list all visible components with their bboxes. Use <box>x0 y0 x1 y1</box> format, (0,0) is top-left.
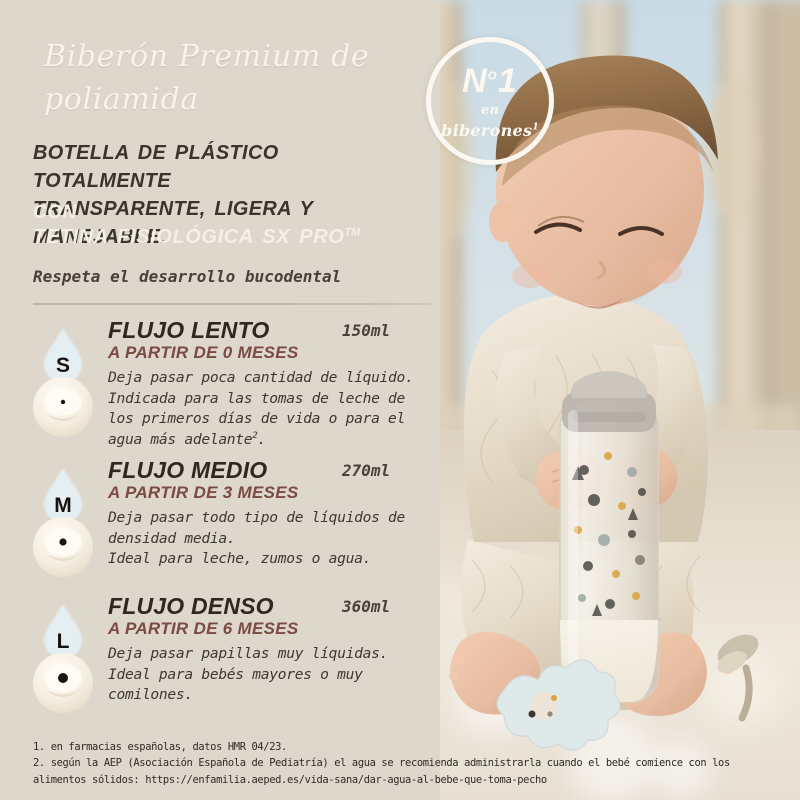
flow-title: FLUJO LENTO <box>108 318 270 342</box>
section-divider <box>33 303 431 305</box>
teat-name-text: TETINA FISIOLÓGICA SX PRO <box>33 226 344 248</box>
flow-age: A PARTIR DE 6 MESES <box>108 620 299 638</box>
badge-line-3: biberones1 <box>426 121 554 140</box>
subtitle: Respeta el desarrollo bucodental <box>33 267 433 286</box>
page-title: Biberón Premium de poliamida <box>44 36 434 121</box>
badge-number-prefix: N <box>462 62 488 100</box>
flow-description-tail: . <box>257 431 266 448</box>
trademark-symbol: TM <box>344 227 360 239</box>
con-label: CON <box>33 201 438 224</box>
flow-icon-s: S <box>24 322 102 440</box>
badge-ordinal: o <box>488 67 498 84</box>
footnote-1: 1. en farmacias españolas, datos HMR 04/… <box>33 739 788 755</box>
flow-icon-l: L <box>24 598 102 716</box>
poster-root: Biberón Premium de poliamida BOTELLA DE … <box>0 0 800 800</box>
teat-hole-m <box>59 538 66 545</box>
teat-name: TETINA FISIOLÓGICA SX PROTM <box>33 224 438 251</box>
teat-callout: CON TETINA FISIOLÓGICA SX PROTM <box>33 201 438 251</box>
flow-description-text: Deja pasar todo tipo de líquidos de dens… <box>108 509 405 567</box>
flow-description: Deja pasar poca cantidad de líquido. Ind… <box>108 368 438 451</box>
flow-title: FLUJO DENSO <box>108 594 274 618</box>
badge-line-3-footnote: 1 <box>532 123 539 133</box>
size-letter-m: M <box>54 494 72 517</box>
footnote-2: 2. según la AEP (Asociación Española de … <box>33 755 788 788</box>
badge-line-2: en <box>426 103 554 118</box>
flow-description: Deja pasar todo tipo de líquidos de dens… <box>108 508 438 570</box>
badge-number: No1 <box>426 64 554 98</box>
content-panel: Biberón Premium de poliamida BOTELLA DE … <box>0 0 440 800</box>
flow-age: A PARTIR DE 0 MESES <box>108 344 299 362</box>
headline-line-1: BOTELLA DE PLÁSTICO TOTALMENTE <box>33 139 421 195</box>
teat-hole-l <box>58 673 68 683</box>
flow-icon-m: M <box>24 462 102 580</box>
flow-volume: 360ml <box>342 597 390 616</box>
footnotes: 1. en farmacias españolas, datos HMR 04/… <box>33 739 788 788</box>
flow-volume: 150ml <box>342 321 390 340</box>
size-letter-l: L <box>57 630 70 653</box>
teat-hole-s <box>61 400 65 404</box>
number-one-badge: No1 en biberones1 <box>426 37 554 165</box>
flow-title: FLUJO MEDIO <box>108 458 267 482</box>
badge-ring <box>426 37 554 165</box>
badge-number-value: 1 <box>498 62 518 100</box>
flow-age: A PARTIR DE 3 MESES <box>108 484 299 502</box>
size-letter-s: S <box>56 354 70 377</box>
badge-line-3-text: biberones <box>441 121 532 140</box>
flow-description: Deja pasar papillas muy líquidas. Ideal … <box>108 644 438 706</box>
flow-volume: 270ml <box>342 461 390 480</box>
